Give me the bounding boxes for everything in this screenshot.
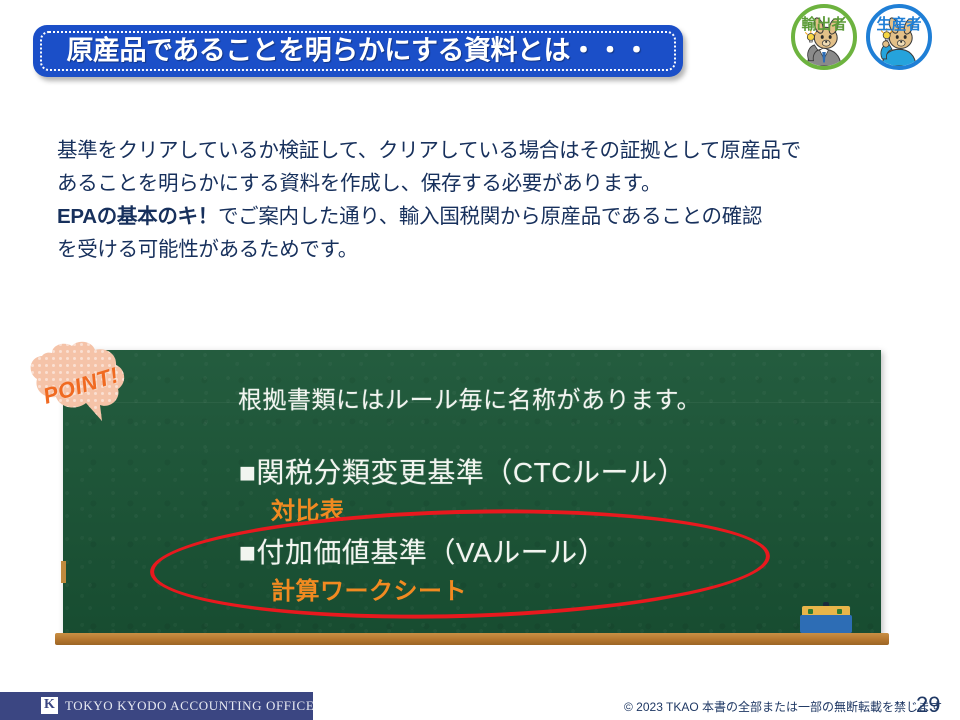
footer-brand-bar: TOKYO KYODO ACCOUNTING OFFICE [0,692,313,720]
body-paragraph: 基準をクリアしているか検証して、クリアしている場合はその証拠として原産品で ある… [57,134,917,266]
avatar-producer-label: 生産者 [870,17,928,32]
body-line-4: を受ける可能性があるためです。 [57,233,917,266]
footer-logo-text: TOKYO KYODO ACCOUNTING OFFICE [65,698,314,714]
blackboard-bullet-ctc: ■関税分類変更基準（CTCルール） [239,451,686,491]
blackboard-ledge [55,633,889,645]
slide-title-banner: 原産品であることを明らかにする資料とは・・・ [33,25,683,77]
blackboard-heading: 根拠書類にはルール毎に名称があります。 [238,380,701,415]
page-number: 29 [916,692,940,718]
body-line-2: あることを明らかにする資料を作成し、保存する必要があります。 [57,167,917,200]
chalk-piece-icon [61,561,66,583]
body-line-1: 基準をクリアしているか検証して、クリアしている場合はその証拠として原産品で [57,134,917,167]
blackboard-surface: 根拠書類にはルール毎に名称があります。 ■関税分類変更基準（CTCルール） 対比… [63,350,881,635]
avatar-producer: 生産者 [866,4,932,70]
avatar-exporter-label: 輸出者 [795,17,853,32]
tkao-logo-icon [41,697,58,714]
blackboard-bullet-va: ■付加価値基準（VAルール） [239,531,606,571]
blackboard-sub-ctc: 対比表 [271,491,345,526]
page-title: 原産品であることを明らかにする資料とは・・・ [33,38,683,65]
eraser-bottom [800,615,852,633]
copyright-notice: © 2023 TKAO 本書の全部または一部の無断転載を禁じます [624,700,942,714]
blackboard: 根拠書類にはルール毎に名称があります。 ■関税分類変更基準（CTCルール） 対比… [63,350,881,644]
blackboard-eraser-icon [800,602,852,633]
point-speech-bubble: POINT! [22,341,140,433]
avatar-exporter: 輸出者 [791,4,857,70]
body-line-3-rest: でご案内した通り、輸入国税関から原産品であることの確認 [218,205,762,228]
body-line-3-bold: EPAの基本のキ！ [57,205,218,228]
body-line-3: EPAの基本のキ！でご案内した通り、輸入国税関から原産品であることの確認 [57,200,917,233]
blackboard-sub-va: 計算ワークシート [271,571,467,606]
